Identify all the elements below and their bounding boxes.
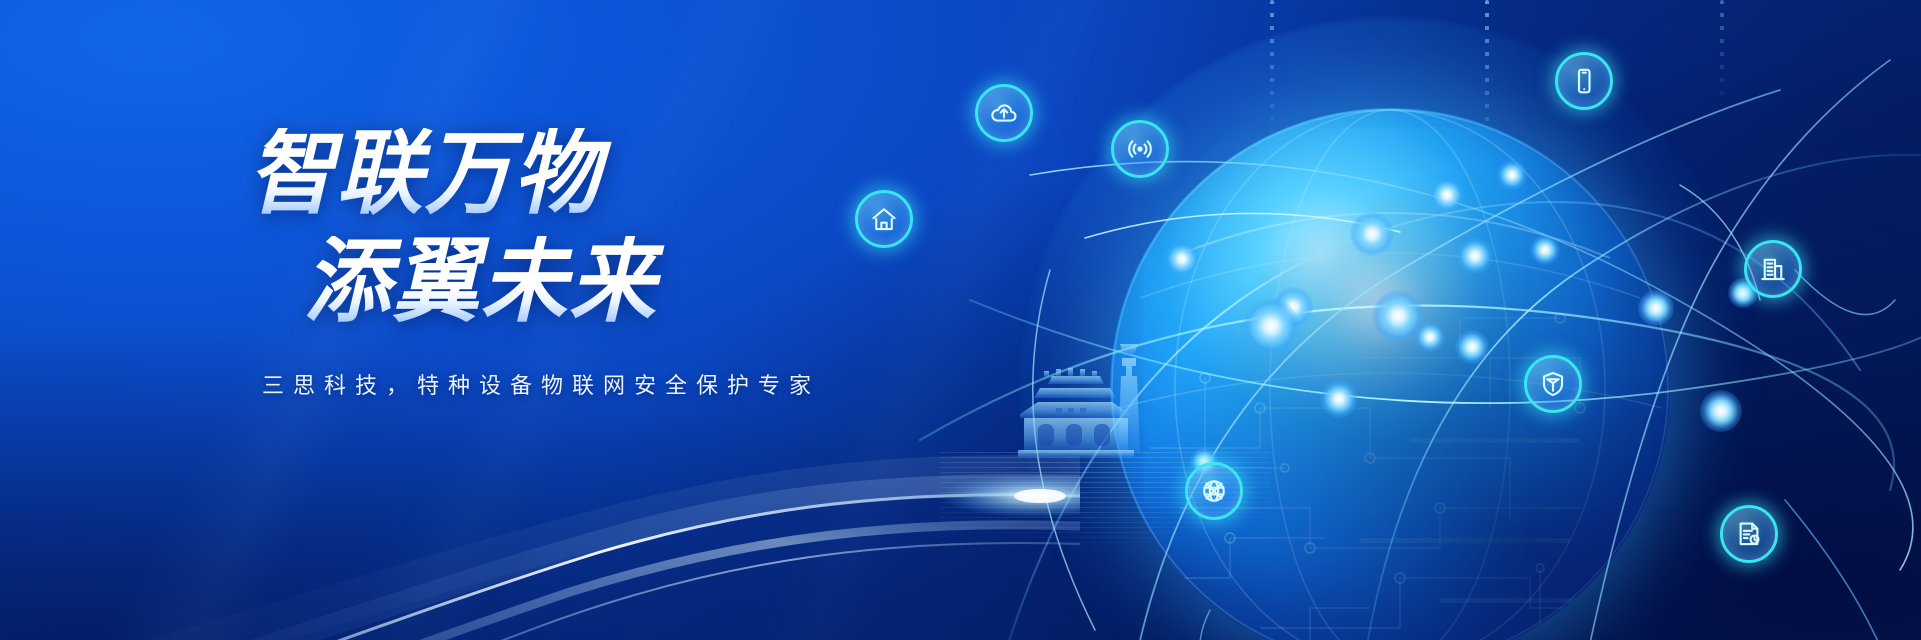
icon-node-building[interactable] [1744,240,1802,298]
network-node-glow [1243,298,1299,354]
network-node-glow [1455,330,1489,364]
icon-node-report-document[interactable] [1720,505,1778,563]
network-node-glow [1497,160,1527,190]
report-document-icon [1734,519,1764,549]
icon-node-signal-broadcast[interactable] [1111,120,1169,178]
dotted-line-accent-4 [1720,0,1724,110]
network-node-glow [1350,212,1394,256]
network-node-glow [1415,322,1445,352]
headline-line-1: 智联万物 [248,128,962,220]
network-node-glow [1700,390,1742,432]
network-node-glow [1165,242,1199,276]
network-node-glow [1530,235,1560,265]
network-node-glow [1430,178,1464,212]
building-icon [1758,254,1788,284]
banner-hero: 智联万物 添翼未来 三思科技，特种设备物联网安全保护专家 [0,0,1921,640]
hero-copy: 智联万物 添翼未来 三思科技，特种设备物联网安全保护专家 [248,128,1008,400]
headline-line-2: 添翼未来 [304,236,966,328]
signal-broadcast-icon [1125,134,1155,164]
subtitle-tagline: 三思科技，特种设备物联网安全保护专家 [262,368,1008,400]
network-node-glow [1457,238,1493,274]
network-node-glow [1320,380,1358,418]
shield-icon [1538,369,1568,399]
cloud-upload-icon [989,98,1019,128]
icon-node-mobile-phone[interactable] [1555,52,1613,110]
mobile-phone-icon [1569,66,1599,96]
icon-node-shield[interactable] [1524,355,1582,413]
network-node-glow [1638,290,1674,326]
